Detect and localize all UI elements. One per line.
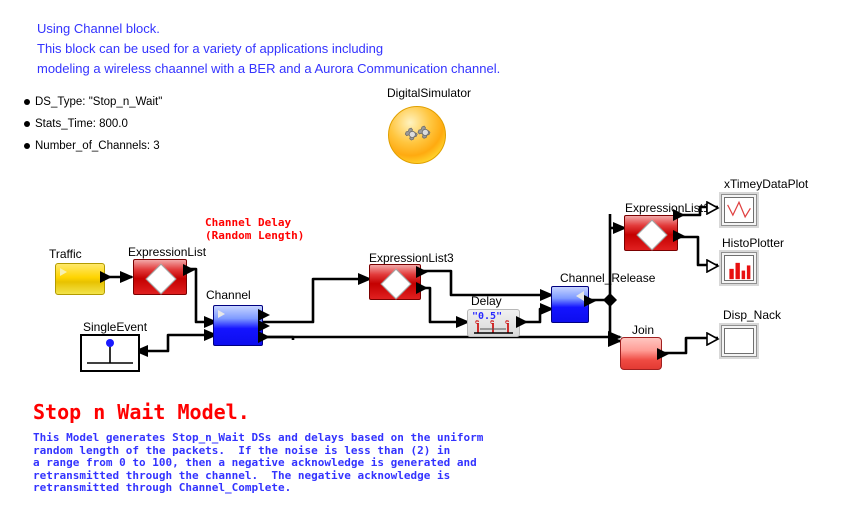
- expressionlist-out-arrow: [183, 263, 201, 279]
- play-triangle-icon: [60, 268, 67, 276]
- join-out-arrow: [657, 347, 675, 363]
- histoplotter-block[interactable]: [719, 250, 759, 286]
- plot-area: [724, 255, 754, 281]
- bullet-icon: [24, 99, 30, 105]
- disp-nack-block[interactable]: [719, 323, 759, 359]
- digital-simulator-block[interactable]: [388, 106, 446, 164]
- play-triangle-icon: [218, 310, 225, 318]
- diamond-icon: [145, 263, 176, 294]
- expressionlist3-out-arrows: [416, 265, 434, 295]
- diamond-icon: [636, 219, 667, 250]
- delay-out-arrow: [516, 315, 534, 331]
- histoplotter-in-arrow: [706, 259, 722, 273]
- gears-icon: [389, 107, 445, 163]
- delay-glyph-icon: eee: [468, 310, 519, 336]
- diamond-icon: [380, 268, 411, 299]
- channel-release-out-arrow: [584, 294, 602, 310]
- expressionlist1-block[interactable]: [624, 215, 678, 251]
- xtimeydataplot-in-arrow: [706, 201, 722, 215]
- traffic-out-arrow: [100, 269, 122, 287]
- channel-release-label: Channel_Release: [560, 271, 655, 285]
- parameter-label: Number_of_Channels: 3: [35, 140, 160, 152]
- singleevent-block[interactable]: [80, 334, 140, 372]
- list-item: Stats_Time: 800.0: [24, 118, 162, 130]
- model-description: This Model generates Stop_n_Wait DSs and…: [33, 432, 483, 495]
- channel-block[interactable]: [213, 305, 263, 346]
- impulse-icon: [82, 336, 138, 370]
- join-block[interactable]: [620, 337, 662, 370]
- join-label: Join: [632, 323, 654, 337]
- expressionlist1-label: ExpressionList1: [625, 201, 710, 215]
- expressionlist-label: ExpressionList: [128, 245, 206, 259]
- list-item: Number_of_Channels: 3: [24, 140, 162, 152]
- delay-label: Delay: [471, 294, 502, 308]
- header-note-line-3: modeling a wireless chaannel with a BER …: [37, 59, 500, 78]
- svg-text:e: e: [490, 318, 494, 326]
- model-canvas[interactable]: Using Channel block. This block can be u…: [0, 0, 841, 507]
- plot-area: [724, 197, 754, 223]
- xtimeydataplot-block[interactable]: [719, 192, 759, 228]
- xtimeydataplot-label: xTimeyDataPlot: [724, 177, 808, 191]
- singleevent-label: SingleEvent: [83, 320, 147, 334]
- channel-delay-note: Channel Delay (Random Length): [205, 216, 304, 242]
- delay-block[interactable]: "0.5" eee: [467, 309, 520, 337]
- svg-text:e: e: [505, 318, 509, 326]
- traffic-label: Traffic: [49, 247, 82, 261]
- expressionlist3-block[interactable]: [369, 264, 421, 300]
- wire-junction: [603, 293, 617, 307]
- svg-text:e: e: [475, 318, 479, 326]
- disp-nack-in-arrow: [706, 332, 722, 346]
- channel-out-arrows: [258, 308, 276, 346]
- line-plot-icon: [725, 198, 753, 222]
- list-item: DS_Type: "Stop_n_Wait": [24, 96, 162, 108]
- header-note-line-2: This block can be used for a variety of …: [37, 39, 383, 58]
- expressionlist3-label: ExpressionList3: [369, 251, 454, 265]
- header-note-line-1: Using Channel block.: [37, 19, 160, 38]
- expressionlist1-out-arrows: [673, 208, 691, 244]
- bullet-icon: [24, 121, 30, 127]
- disp-nack-label: Disp_Nack: [723, 308, 781, 322]
- parameter-label: Stats_Time: 800.0: [35, 118, 128, 130]
- play-triangle-left-icon: [576, 291, 584, 301]
- channel-label: Channel: [206, 288, 251, 302]
- histoplotter-label: HistoPlotter: [722, 236, 784, 250]
- parameter-label: DS_Type: "Stop_n_Wait": [35, 96, 162, 108]
- empty-display-icon: [724, 328, 754, 354]
- bullet-icon: [24, 143, 30, 149]
- digital-simulator-label: DigitalSimulator: [387, 86, 471, 100]
- traffic-block[interactable]: [55, 263, 105, 295]
- bar-chart-icon: [725, 256, 753, 280]
- parameter-list: DS_Type: "Stop_n_Wait" Stats_Time: 800.0…: [24, 96, 162, 162]
- model-title: Stop n Wait Model.: [33, 400, 250, 424]
- expressionlist-block[interactable]: [133, 259, 187, 295]
